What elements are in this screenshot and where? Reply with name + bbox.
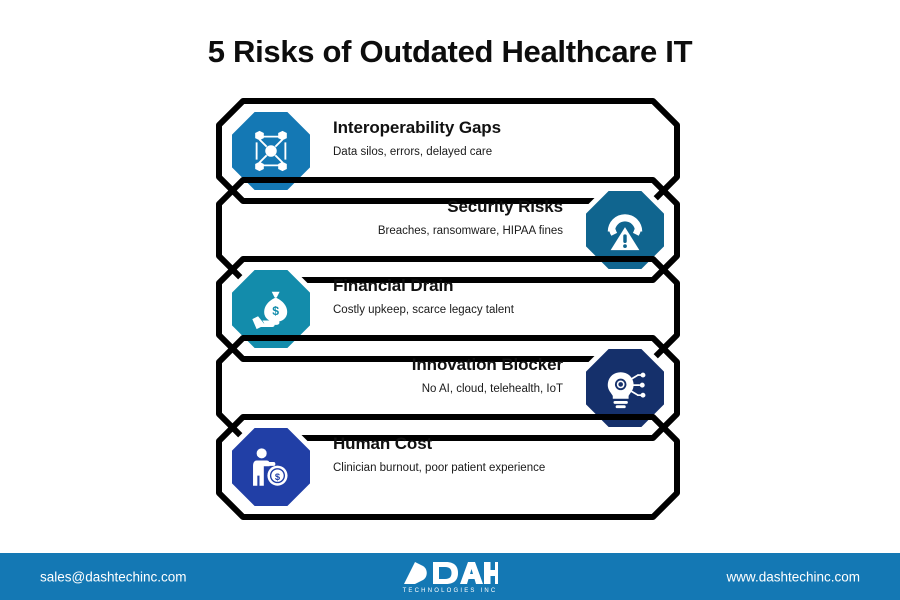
risk-text-3: Financial Drain Costly upkeep, scarce le… — [333, 275, 663, 318]
risk-text-5: Human Cost Clinician burnout, poor patie… — [333, 433, 663, 476]
person-coin-icon: $ — [248, 444, 294, 490]
risk-title-2: Security Risks — [233, 196, 563, 218]
gauge-warning-icon — [602, 207, 648, 253]
risk-text-1: Interoperability Gaps Data silos, errors… — [333, 117, 663, 160]
logo-tagline: TECHNOLOGIES INC — [360, 588, 540, 594]
risk-title-1: Interoperability Gaps — [333, 117, 663, 139]
svg-text:$: $ — [272, 304, 279, 318]
page-title: 5 Risks of Outdated Healthcare IT — [0, 34, 900, 70]
footer-bar: sales@dashtechinc.com TECHNOLOGIES INC w… — [0, 553, 900, 600]
network-nodes-icon — [248, 128, 294, 174]
risk-subtitle-5: Clinician burnout, poor patient experien… — [333, 461, 663, 476]
dash-logo-icon — [402, 560, 498, 586]
infographic-canvas: 5 Risks of Outdated Healthcare IT — [0, 0, 900, 600]
risk-title-4: Innovation Blocker — [233, 354, 563, 376]
money-bag-hand-icon: $ — [248, 286, 294, 332]
risk-subtitle-4: No AI, cloud, telehealth, IoT — [233, 382, 563, 397]
svg-text:$: $ — [275, 472, 281, 482]
lightbulb-circuit-icon — [602, 365, 648, 411]
risk-subtitle-2: Breaches, ransomware, HIPAA fines — [233, 224, 563, 239]
footer-email[interactable]: sales@dashtechinc.com — [40, 569, 187, 584]
risk-text-4: Innovation Blocker No AI, cloud, telehea… — [233, 354, 563, 397]
risk-subtitle-3: Costly upkeep, scarce legacy talent — [333, 303, 663, 318]
risk-text-2: Security Risks Breaches, ransomware, HIP… — [233, 196, 563, 239]
risk-title-5: Human Cost — [333, 433, 663, 455]
risk-row-5[interactable]: $ Human Cost Clinician burnout, poor pat… — [213, 411, 683, 523]
footer-website[interactable]: www.dashtechinc.com — [726, 569, 860, 584]
risk-title-3: Financial Drain — [333, 275, 663, 297]
risk-subtitle-1: Data silos, errors, delayed care — [333, 145, 663, 160]
risk-icon-badge-5: $ — [227, 423, 315, 511]
footer-logo: TECHNOLOGIES INC — [360, 560, 540, 594]
